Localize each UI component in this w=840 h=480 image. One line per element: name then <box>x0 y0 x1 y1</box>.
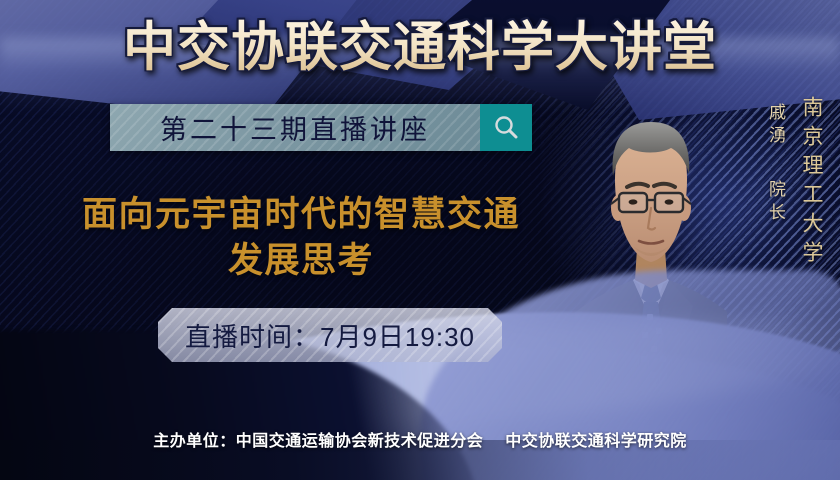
broadcast-time-inner: 直播时间：7月9日19:30 <box>158 308 502 362</box>
organizer-name-1: 中国交通运输协会新技术促进分会 <box>236 433 484 450</box>
lecture-headline: 面向元宇宙时代的智慧交通 发展思考 <box>36 192 566 284</box>
speaker-name: 戚湧 <box>763 103 788 149</box>
live-lecture-poster: 中交协联交通科学大讲堂 第二十三期直播讲座 面向元宇宙时代的智慧交通 发展思考 … <box>0 0 840 480</box>
organizer-name-2: 中交协联交通科学研究院 <box>505 433 687 450</box>
organizer-prefix: 主办单位： <box>153 433 236 450</box>
search-icon[interactable] <box>480 104 532 151</box>
organizer-line: 主办单位：中国交通运输协会新技术促进分会中交协联交通科学研究院 <box>0 427 840 451</box>
headline-line-2: 发展思考 <box>36 238 566 284</box>
speaker-university: 南京理工大学 <box>796 96 826 270</box>
speaker-role: 院长 <box>763 180 788 226</box>
session-banner-label: 第二十三期直播讲座 <box>160 108 430 147</box>
session-banner-body: 第二十三期直播讲座 <box>110 104 480 151</box>
broadcast-time-badge: 直播时间：7月9日19:30 <box>158 308 502 362</box>
session-banner: 第二十三期直播讲座 <box>110 104 532 151</box>
page-title: 中交协联交通科学大讲堂 <box>0 17 840 79</box>
broadcast-time-label: 直播时间：7月9日19:30 <box>185 317 475 354</box>
headline-line-1: 面向元宇宙时代的智慧交通 <box>36 192 566 238</box>
